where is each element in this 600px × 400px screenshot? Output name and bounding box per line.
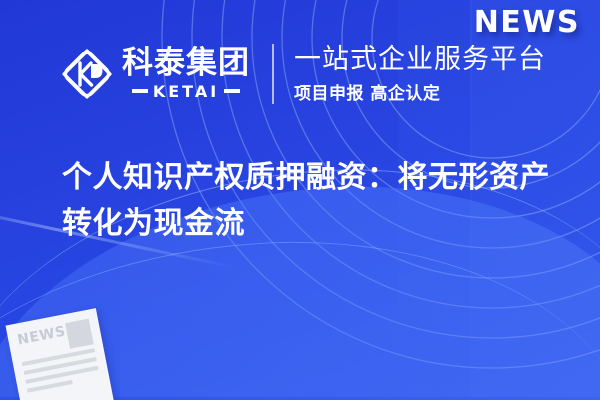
news-banner: NEWS 科泰集团 KETAI [0, 0, 600, 400]
ketai-diamond-monogram-icon [60, 47, 114, 101]
slogan-sub-text: 项目申报 高企认定 [294, 79, 546, 104]
company-logo[interactable]: 科泰集团 KETAI [60, 47, 250, 101]
newspaper-masthead: NEWS [16, 323, 67, 348]
logo-dash-right-icon [224, 89, 240, 93]
header-divider [272, 44, 274, 104]
newspaper-thumbnail-block [65, 319, 94, 349]
logo-text-block: 科泰集团 KETAI [122, 47, 250, 101]
newspaper-icon: NEWS [5, 308, 114, 400]
slogan-block: 一站式企业服务平台 项目申报 高企认定 [294, 44, 546, 104]
slogan-main-text: 一站式企业服务平台 [294, 44, 546, 75]
logo-company-en-row: KETAI [132, 82, 240, 101]
banner-header: 科泰集团 KETAI 一站式企业服务平台 项目申报 高企认定 [0, 34, 600, 114]
logo-company-cn: 科泰集团 [122, 47, 250, 80]
logo-dash-left-icon [132, 89, 148, 93]
logo-company-en: KETAI [153, 82, 219, 101]
article-title: 个人知识产权质押融资：将无形资产转化为现金流 [62, 155, 562, 246]
